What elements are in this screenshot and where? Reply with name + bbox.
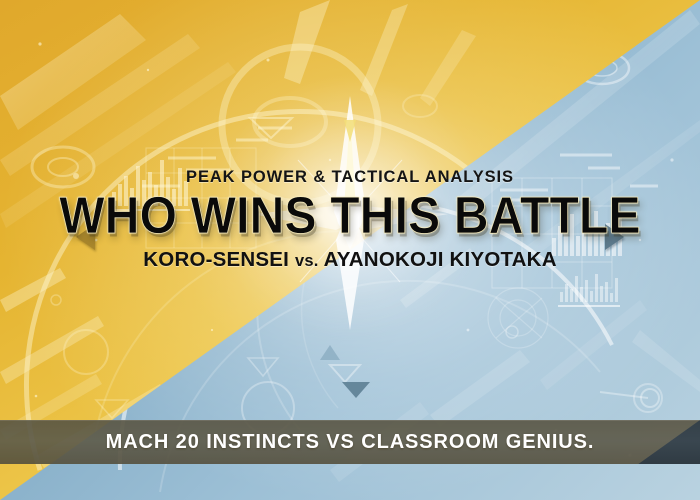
- battle-banner-image: PEAK POWER & TACTICAL ANALYSIS WHO WINS …: [0, 0, 700, 500]
- footer-banner-gold-overlay: [0, 420, 700, 464]
- matchup-subtitle: KORO-SENSEI vs. AYANOKOJI KIYOTAKA: [0, 248, 700, 272]
- eyebrow-text: PEAK POWER & TACTICAL ANALYSIS: [0, 168, 700, 187]
- fighter-right-name: AYANOKOJI KIYOTAKA: [324, 248, 557, 271]
- versus-label: vs.: [295, 252, 319, 270]
- fighter-left-name: KORO-SENSEI: [143, 248, 289, 271]
- headline-block: PEAK POWER & TACTICAL ANALYSIS WHO WINS …: [0, 168, 700, 272]
- page-title: WHO WINS THIS BATTLE: [0, 191, 700, 243]
